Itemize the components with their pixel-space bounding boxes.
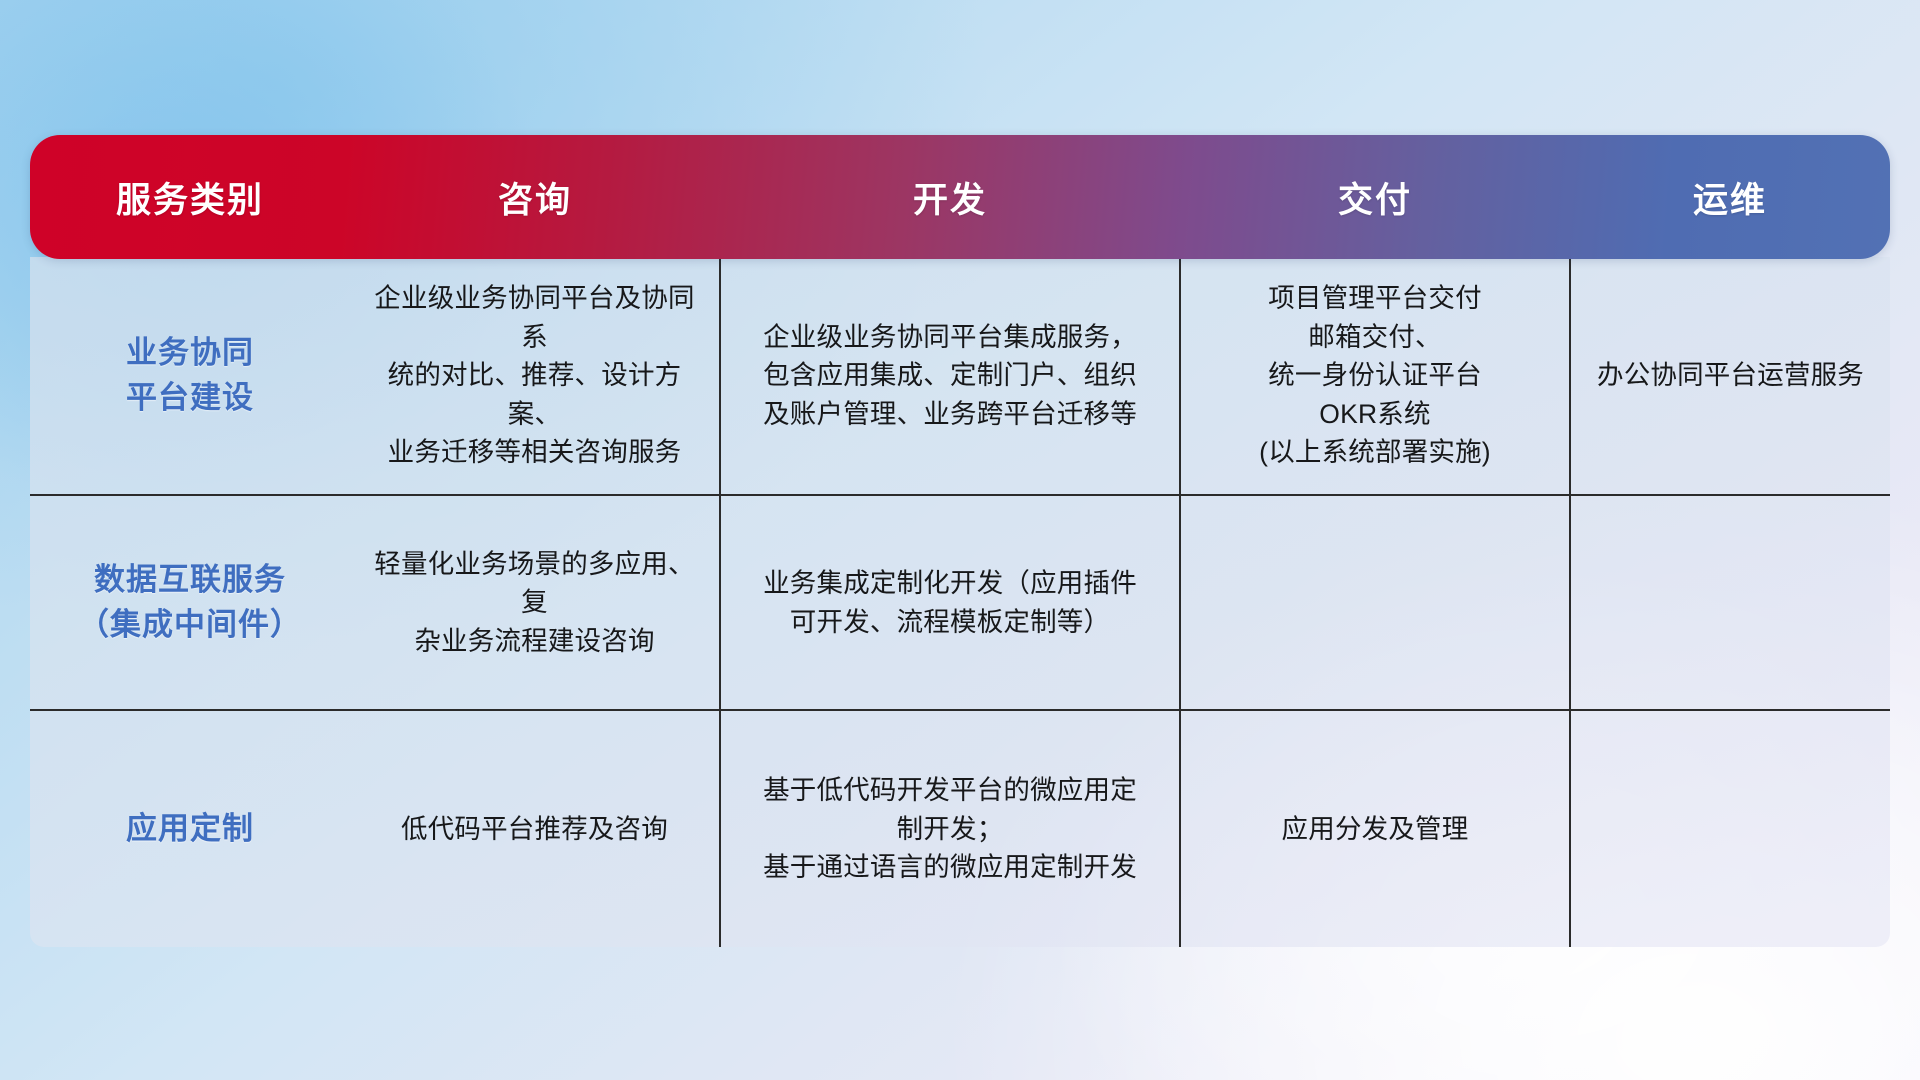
cell-text-development: 业务集成定制化开发（应用插件 可开发、流程模板定制等）	[735, 564, 1165, 641]
cell-operations: 办公协同平台运营服务	[1570, 257, 1890, 495]
cell-development: 基于低代码开发平台的微应用定 制开发； 基于通过语言的微应用定制开发	[720, 710, 1180, 947]
cell-text-development: 基于低代码开发平台的微应用定 制开发； 基于通过语言的微应用定制开发	[735, 771, 1165, 886]
cell-consulting: 低代码平台推荐及咨询	[350, 710, 720, 947]
table-row: 数据互联服务 （集成中间件） 轻量化业务场景的多应用、复 杂业务流程建设咨询 业…	[30, 495, 1890, 710]
row-category-cell: 应用定制	[30, 710, 350, 947]
cell-consulting: 轻量化业务场景的多应用、复 杂业务流程建设咨询	[350, 495, 720, 710]
column-header-operations: 运维	[1570, 172, 1890, 223]
row-category-cell: 业务协同 平台建设	[30, 257, 350, 495]
cell-text-development: 企业级业务协同平台集成服务， 包含应用集成、定制门户、组织 及账户管理、业务跨平…	[735, 318, 1165, 433]
cell-text-operations: 办公协同平台运营服务	[1585, 356, 1876, 394]
cell-text-delivery: 项目管理平台交付 邮箱交付、 统一身份认证平台 OKR系统 (以上系统部署实施)	[1195, 279, 1555, 471]
table-grid: 业务协同 平台建设 企业级业务协同平台及协同系 统的对比、推荐、设计方案、 业务…	[30, 257, 1890, 947]
cell-text-operations	[1585, 824, 1876, 834]
service-matrix-table: 服务类别 咨询 开发 交付 运维 业务协同 平台建设 企业级业务协同平台及	[30, 135, 1890, 947]
cell-text-consulting: 企业级业务协同平台及协同系 统的对比、推荐、设计方案、 业务迁移等相关咨询服务	[364, 279, 705, 471]
cell-text-consulting: 低代码平台推荐及咨询	[364, 810, 705, 848]
cell-text-delivery	[1195, 598, 1555, 608]
row-category-cell: 数据互联服务 （集成中间件）	[30, 495, 350, 710]
column-header-consulting: 咨询	[350, 172, 720, 223]
column-header-development: 开发	[720, 172, 1180, 223]
cell-operations	[1570, 495, 1890, 710]
row-category-label: 应用定制	[44, 807, 336, 851]
cell-development: 业务集成定制化开发（应用插件 可开发、流程模板定制等）	[720, 495, 1180, 710]
column-header-service-category: 服务类别	[30, 172, 350, 223]
table-row: 业务协同 平台建设 企业级业务协同平台及协同系 统的对比、推荐、设计方案、 业务…	[30, 257, 1890, 495]
column-header-delivery: 交付	[1180, 172, 1570, 223]
cell-delivery: 项目管理平台交付 邮箱交付、 统一身份认证平台 OKR系统 (以上系统部署实施)	[1180, 257, 1570, 495]
table-body-panel: 业务协同 平台建设 企业级业务协同平台及协同系 统的对比、推荐、设计方案、 业务…	[30, 257, 1890, 947]
table-row: 应用定制 低代码平台推荐及咨询 基于低代码开发平台的微应用定 制开发； 基于通过…	[30, 710, 1890, 947]
cell-text-delivery: 应用分发及管理	[1195, 810, 1555, 848]
cell-delivery: 应用分发及管理	[1180, 710, 1570, 947]
cell-consulting: 企业级业务协同平台及协同系 统的对比、推荐、设计方案、 业务迁移等相关咨询服务	[350, 257, 720, 495]
cell-text-consulting: 轻量化业务场景的多应用、复 杂业务流程建设咨询	[364, 545, 705, 660]
cell-delivery	[1180, 495, 1570, 710]
table-header-band: 服务类别 咨询 开发 交付 运维	[30, 135, 1890, 259]
row-category-label: 业务协同 平台建设	[44, 331, 336, 419]
cell-development: 企业级业务协同平台集成服务， 包含应用集成、定制门户、组织 及账户管理、业务跨平…	[720, 257, 1180, 495]
cell-text-operations	[1585, 598, 1876, 608]
row-category-label: 数据互联服务 （集成中间件）	[44, 558, 336, 646]
cell-operations	[1570, 710, 1890, 947]
